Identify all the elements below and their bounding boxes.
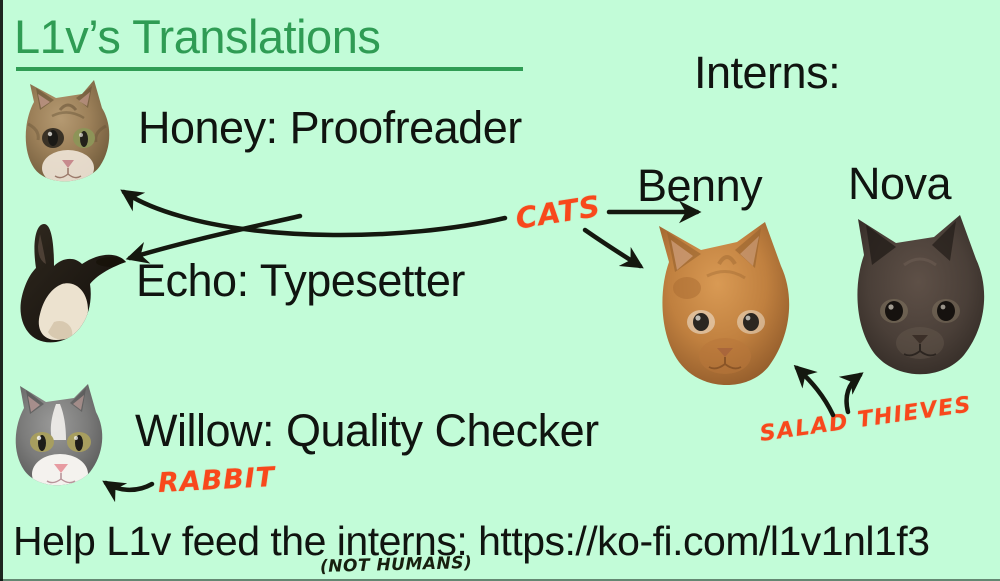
- rabbit-annotation: RABBIT: [157, 464, 276, 497]
- cats-annotation: CATS: [514, 192, 603, 234]
- photo-willow-cat: [0, 378, 124, 502]
- intern-label-benny: Benny: [637, 163, 762, 208]
- arrow-cats-to-echo: [130, 216, 300, 258]
- title-underline: [16, 67, 523, 71]
- photo-honey-cat: [8, 76, 128, 198]
- not-humans-annotation: (NOT HUMANS): [320, 553, 473, 577]
- left-border: [0, 0, 3, 581]
- photo-echo-rabbit: [2, 222, 130, 348]
- photo-nova-cat: [842, 215, 1000, 381]
- intern-label-nova: Nova: [848, 161, 951, 206]
- interns-header: Interns:: [694, 50, 840, 95]
- salad-thieves-annotation: SALAD THIEVES: [758, 394, 973, 446]
- role-label-echo: Echo: Typesetter: [136, 258, 465, 303]
- photo-benny-cat: [645, 220, 805, 396]
- arrow-cats-to-honey: [124, 192, 505, 235]
- role-label-willow: Willow: Quality Checker: [135, 408, 599, 453]
- page-title: L1v’s Translations: [14, 13, 380, 60]
- slide-canvas: L1v’s Translations Interns: Honey: Proof…: [0, 0, 1000, 581]
- arrow-cats-to-benny: [585, 230, 640, 266]
- role-label-honey: Honey: Proofreader: [138, 105, 522, 150]
